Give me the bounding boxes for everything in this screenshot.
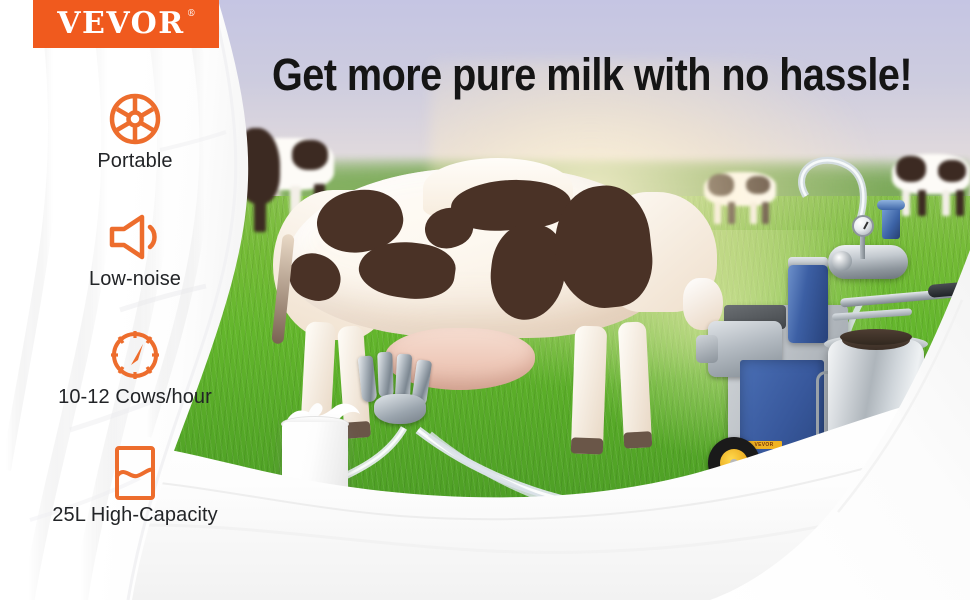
feature-item-portable: Portable — [0, 88, 270, 206]
feature-list: Portable Low-noise — [0, 88, 270, 560]
feature-item-capacity: 25L High-Capacity — [0, 442, 270, 560]
feature-item-low-noise: Low-noise — [0, 206, 270, 324]
bucket-level-icon — [0, 442, 270, 504]
speedometer-icon — [0, 324, 270, 386]
registered-trademark-icon: ® — [187, 10, 196, 19]
feature-label: 10-12 Cows/hour — [0, 386, 270, 409]
vevor-logo[interactable]: VEVOR ® — [33, 0, 219, 48]
feature-item-throughput: 10-12 Cows/hour — [0, 324, 270, 442]
logo-text: VEVOR — [57, 6, 184, 41]
speaker-icon — [0, 206, 270, 268]
feature-label: Portable — [0, 150, 270, 173]
product-banner: VEVOR — [0, 0, 970, 600]
feature-label: 25L High-Capacity — [0, 504, 270, 527]
page-title: Get more pure milk with no hassle! — [272, 52, 879, 97]
logo-wordmark: VEVOR ® — [57, 9, 194, 39]
wheel-icon — [0, 88, 270, 150]
feature-label: Low-noise — [0, 268, 270, 291]
